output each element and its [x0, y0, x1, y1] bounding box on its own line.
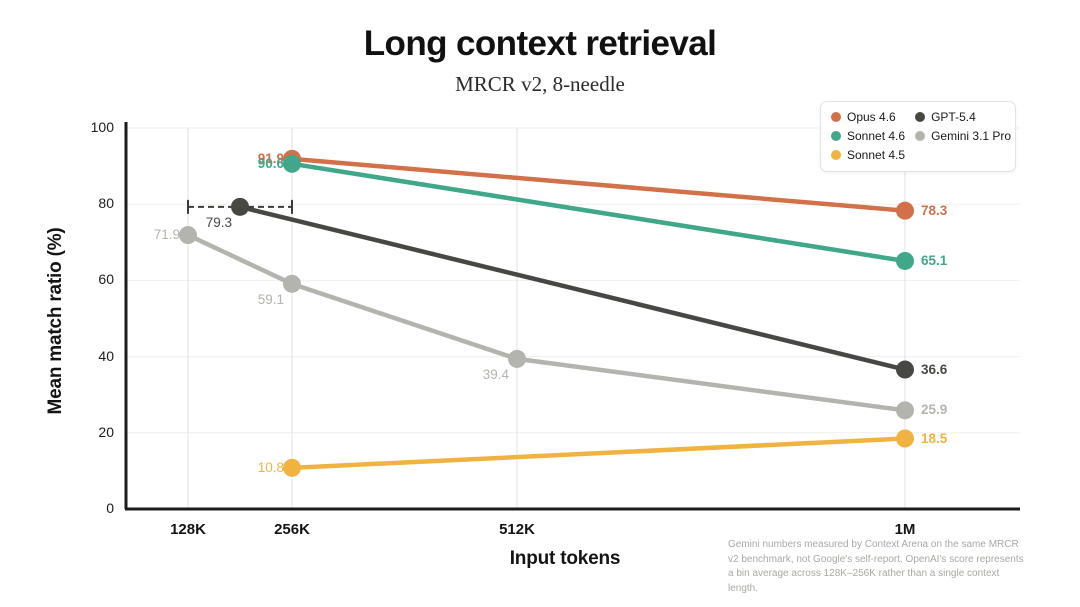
data-point-value-label: 25.9 [921, 402, 947, 417]
plot-area [0, 0, 1080, 607]
data-point-marker [508, 350, 526, 368]
legend-color-swatch-icon [915, 131, 925, 141]
y-axis-tick: 80 [68, 195, 114, 211]
series-points [179, 150, 914, 477]
legend-item-label: Sonnet 4.5 [847, 148, 905, 162]
data-point-marker [283, 155, 301, 173]
data-point-marker [896, 202, 914, 220]
data-point-marker [896, 430, 914, 448]
y-axis-tick: 0 [68, 500, 114, 516]
legend-color-swatch-icon [831, 150, 841, 160]
legend-item-label: Opus 4.6 [847, 110, 896, 124]
legend-color-swatch-icon [831, 112, 841, 122]
legend-item-label: Gemini 3.1 Pro [931, 129, 1011, 143]
data-point-marker [283, 459, 301, 477]
legend-color-swatch-icon [915, 112, 925, 122]
legend-item-label: GPT-5.4 [931, 110, 976, 124]
data-point-marker [896, 401, 914, 419]
legend-item[interactable]: Sonnet 4.6 [831, 129, 905, 143]
chart-legend: Opus 4.6Sonnet 4.6Sonnet 4.5 GPT-5.4Gemi… [820, 101, 1016, 172]
series-lines [188, 159, 905, 468]
data-point-value-label: 71.9 [136, 227, 180, 242]
data-point-value-label: 39.4 [469, 367, 509, 382]
x-axis-tick: 256K [247, 521, 337, 538]
chart-footnote: Gemini numbers measured by Context Arena… [728, 538, 1028, 596]
y-axis-tick: 60 [68, 271, 114, 287]
data-point-value-label: 10.8 [240, 460, 284, 475]
x-axis-tick: 1M [860, 521, 950, 538]
data-point-marker [896, 361, 914, 379]
legend-item[interactable]: Gemini 3.1 Pro [915, 129, 1011, 143]
data-point-marker [231, 198, 249, 216]
legend-color-swatch-icon [831, 131, 841, 141]
data-point-value-label: 18.5 [921, 431, 947, 446]
data-point-value-label: 78.3 [921, 203, 947, 218]
data-point-value-label: 59.1 [244, 292, 284, 307]
legend-column-left: Opus 4.6Sonnet 4.6Sonnet 4.5 [831, 110, 905, 162]
gridlines [126, 128, 1020, 509]
axis-lines [125, 122, 1020, 509]
data-point-value-label: 79.3 [192, 215, 232, 230]
data-point-marker [283, 275, 301, 293]
legend-item-label: Sonnet 4.6 [847, 129, 905, 143]
x-axis-tick: 128K [143, 521, 233, 538]
data-point-value-label: 90.6 [240, 156, 284, 171]
legend-item[interactable]: Opus 4.6 [831, 110, 905, 124]
x-axis-tick: 512K [472, 521, 562, 538]
data-point-value-label: 65.1 [921, 253, 947, 268]
y-axis-tick: 100 [68, 119, 114, 135]
y-axis-tick: 40 [68, 348, 114, 364]
data-point-marker [896, 252, 914, 270]
legend-column-right: GPT-5.4Gemini 3.1 Pro [915, 110, 1011, 162]
y-axis-tick: 20 [68, 424, 114, 440]
legend-item[interactable]: GPT-5.4 [915, 110, 1011, 124]
legend-item[interactable]: Sonnet 4.5 [831, 148, 905, 162]
data-point-value-label: 36.6 [921, 362, 947, 377]
chart-container: Long context retrieval MRCR v2, 8-needle… [0, 0, 1080, 607]
